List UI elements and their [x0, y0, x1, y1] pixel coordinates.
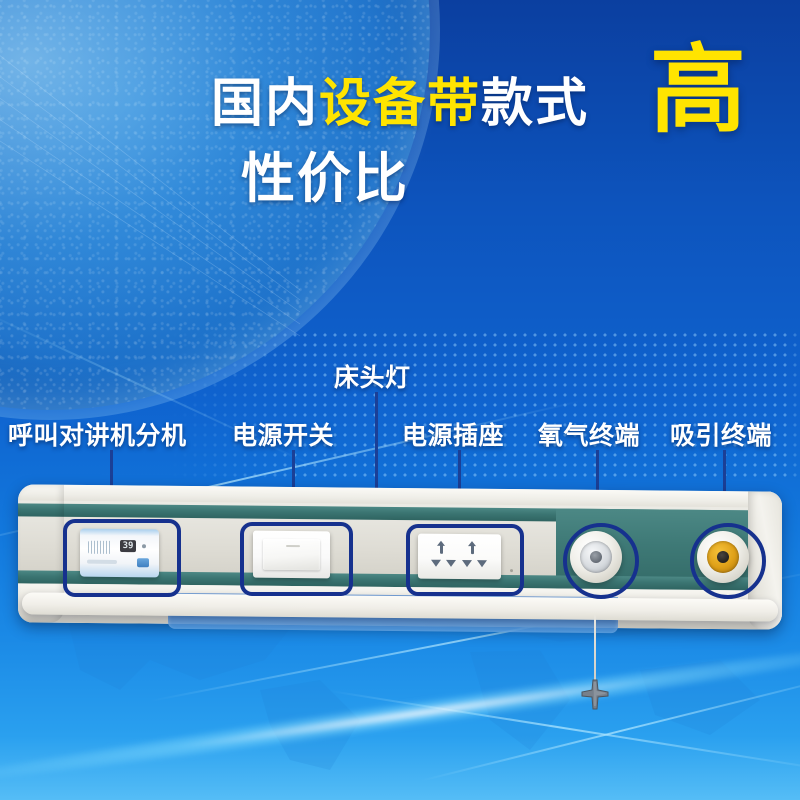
callout-label-intercom: 呼叫对讲机分机 — [8, 416, 187, 452]
callout-label-power-switch: 电源开关 — [232, 416, 334, 452]
callout-label-suction-outlet: 吸引终端 — [670, 416, 772, 452]
pull-cord-handle-icon[interactable] — [579, 678, 611, 710]
highlight-box-socket — [406, 524, 524, 596]
highlight-box-switch — [240, 522, 353, 596]
headline-line-2: 性价比 — [0, 152, 800, 206]
promo-banner: 国内设备带款式 性价比 高 呼叫对讲机分机电源开关床头灯电源插座氧气终端吸引终端… — [0, 0, 800, 800]
callout-label-oxygen-outlet: 氧气终端 — [538, 416, 640, 452]
headline-part-2: 款式 — [481, 74, 589, 134]
highlight-circle-oxygen — [563, 523, 639, 599]
headline-part-1: 国内 — [211, 74, 319, 134]
headline-highlight: 设备带 — [319, 74, 481, 134]
callout-label-power-socket: 电源插座 — [402, 416, 504, 452]
highlight-circle-suction — [690, 523, 766, 599]
highlight-box-intercom — [63, 519, 181, 597]
callout-label-bed-lamp: 床头灯 — [334, 358, 411, 394]
headline-big-word: 高 — [650, 42, 746, 138]
pull-cord-line — [594, 614, 596, 686]
